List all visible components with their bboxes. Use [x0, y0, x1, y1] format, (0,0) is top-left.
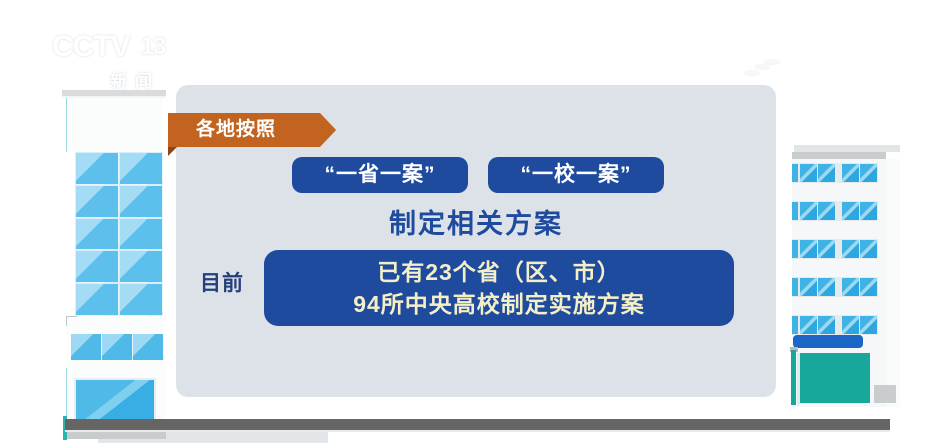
window-sliver [792, 316, 798, 334]
glass-pane [119, 250, 163, 283]
glass-pane [119, 152, 163, 185]
channel-subtitle: 新闻 [52, 67, 192, 92]
building-floor [792, 201, 878, 221]
building-window [800, 240, 817, 258]
ribbon-notch [320, 113, 346, 147]
ribbon-label: 各地按照 [196, 113, 276, 147]
glass-pane [119, 283, 163, 316]
glass-pane [119, 218, 163, 251]
window-sliver [792, 164, 798, 182]
ribbon-banner: 各地按照 [168, 113, 346, 147]
building-window [860, 240, 877, 258]
glass-pane [75, 218, 119, 251]
left-building-glass-grid [75, 152, 163, 316]
logo-underline [60, 66, 184, 68]
channel-number: 13 [132, 28, 175, 66]
ground-shadow [65, 430, 890, 432]
statistics-box: 已有23个省（区、市） 94所中央高校制定实施方案 [264, 250, 734, 326]
building-window [800, 278, 817, 296]
building-window [860, 278, 877, 296]
building-floor [792, 277, 878, 297]
left-building-upper-wall [66, 98, 163, 152]
right-building-pillar [791, 350, 796, 405]
left-building-entrance-window [74, 378, 156, 424]
right-building-step-block [874, 385, 896, 403]
panel-corner-flourish [742, 54, 788, 84]
building-window [800, 202, 817, 220]
building-window [860, 316, 877, 334]
building-floor [792, 315, 878, 335]
band-pane [102, 334, 133, 360]
building-window [860, 202, 877, 220]
building-window [842, 202, 859, 220]
glass-pane [75, 250, 119, 283]
building-floor [792, 239, 878, 259]
right-building-illustration [788, 145, 910, 425]
cctv-wordmark: CCTV [52, 30, 130, 63]
statistics-line-2: 94所中央高校制定实施方案 [353, 288, 645, 320]
building-window [818, 278, 835, 296]
right-building-side-wall [886, 159, 900, 407]
broadcast-screen: 各地按照 “一省一案” “一校一案” 制定相关方案 目前 已有23个省（区、市）… [0, 0, 937, 443]
building-window [800, 316, 817, 334]
building-window [818, 240, 835, 258]
glass-pane [75, 185, 119, 218]
right-building-base-block [800, 353, 870, 403]
building-window [842, 316, 859, 334]
building-window [842, 164, 859, 182]
pill-one-province-one-plan[interactable]: “一省一案” [292, 157, 468, 193]
statistics-line-1: 已有23个省（区、市） [377, 256, 621, 288]
building-window [842, 240, 859, 258]
pill-one-school-one-plan[interactable]: “一校一案” [488, 157, 664, 193]
panel-headline: 制定相关方案 [176, 202, 776, 241]
cctv-logo-icon: CCTV13 [52, 28, 192, 66]
right-building-signboard [793, 335, 863, 348]
building-floor [792, 163, 878, 183]
window-sliver [792, 202, 798, 220]
right-building-roof-cap [794, 145, 900, 152]
building-window [818, 316, 835, 334]
glass-pane [75, 152, 119, 185]
window-sliver [792, 240, 798, 258]
building-window [860, 164, 877, 182]
window-sliver [792, 278, 798, 296]
building-window [800, 164, 817, 182]
band-pane [71, 334, 102, 360]
band-pane [133, 334, 164, 360]
current-status-label: 目前 [200, 267, 244, 297]
right-building-cornice [792, 152, 886, 159]
building-window [818, 164, 835, 182]
left-building-step-notch [66, 316, 77, 326]
glass-pane [75, 283, 119, 316]
building-window [818, 202, 835, 220]
ground-bar [65, 419, 890, 430]
glass-pane [119, 185, 163, 218]
building-window [842, 278, 859, 296]
left-building-mid-band [66, 316, 163, 334]
left-building-window-band [71, 334, 164, 360]
